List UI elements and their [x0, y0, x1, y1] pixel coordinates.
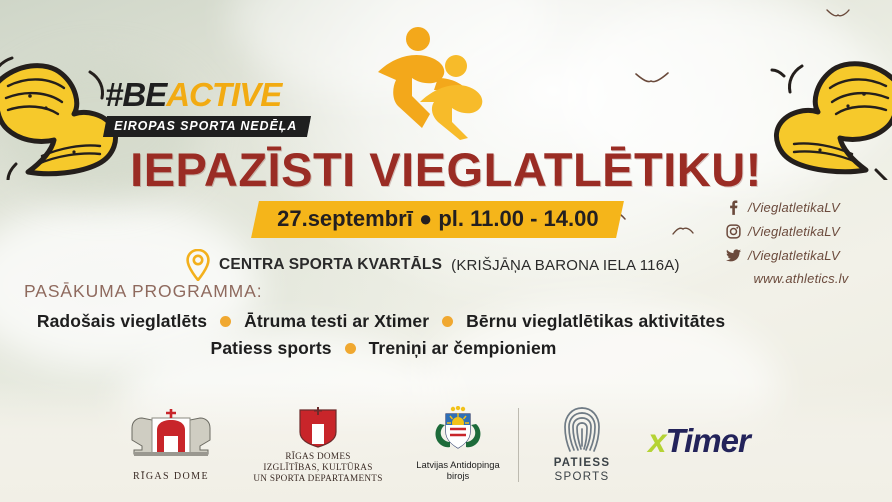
programme-list: Radošais vieglatlēts Ātruma testi ar Xti…: [0, 311, 892, 365]
logo-caption-line: UN SPORTA DEPARTAMENTS: [242, 473, 394, 484]
programme-item: Bērnu vieglatlētikas aktivitātes: [466, 311, 725, 332]
social-handle: /VieglatletikaLV: [748, 248, 840, 263]
instagram-icon: [726, 224, 741, 239]
beactive-subtitle: EIROPAS SPORTA NEDĒĻA: [103, 116, 311, 137]
logo-caption-line: IZGLĪTĪBAS, KULTŪRAS: [242, 462, 394, 473]
poster-canvas: #BEACTIVE EIROPAS SPORTA NEDĒĻA IEPAZĪST…: [0, 0, 892, 502]
bullet-dot-icon: [442, 316, 453, 327]
programme-item: Radošais vieglatlēts: [37, 311, 207, 332]
venue-line: CENTRA SPORTA KVARTĀLS (KRIŠJĀŅA BARONA …: [186, 249, 680, 281]
venue-address: (KRIŠJĀŅA BARONA IELA 116A): [451, 257, 680, 274]
fingerprint-icon: [562, 406, 602, 454]
date-time-text: 27.septembrī ● pl. 11.00 - 14.00: [277, 206, 598, 232]
xtimer-timer: Timer: [666, 422, 750, 459]
logo-caption: RĪGAS DOMES IZGLĪTĪBAS, KULTŪRAS UN SPOR…: [242, 451, 394, 484]
social-handle: /VieglatletikaLV: [748, 224, 840, 239]
programme-item: Patiess sports: [211, 338, 332, 359]
website-link[interactable]: www.athletics.lv: [726, 271, 876, 286]
logo-caption: PATIESS SPORTS: [528, 457, 636, 484]
beactive-be: BE: [122, 76, 166, 113]
bullet-dot-icon: [220, 316, 231, 327]
programme-title: PASĀKUMA PROGRAMMA:: [24, 281, 262, 302]
beactive-active: ACTIVE: [166, 76, 281, 113]
logo-caption-line: RĪGAS DOMES: [242, 451, 394, 462]
programme-row: Radošais vieglatlēts Ātruma testi ar Xti…: [0, 311, 892, 332]
riga-department-crest-icon: [296, 406, 340, 448]
logo-riga-department: RĪGAS DOMES IZGLĪTĪBAS, KULTŪRAS UN SPOR…: [242, 406, 394, 484]
programme-row: Patiess sports Treniņi ar čempioniem: [0, 338, 892, 359]
venue-name: CENTRA SPORTA KVARTĀLS: [219, 256, 442, 274]
social-link-twitter[interactable]: /VieglatletikaLV: [726, 246, 876, 264]
programme-item: Treniņi ar čempioniem: [369, 338, 557, 359]
logo-caption: RĪGAS DOME: [112, 471, 230, 483]
location-pin-icon: [186, 249, 210, 281]
social-link-instagram[interactable]: /VieglatletikaLV: [726, 222, 876, 240]
logo-caption-line: birojs: [398, 470, 518, 481]
date-time-banner: 27.septembrī ● pl. 11.00 - 14.00: [251, 201, 624, 238]
bird-silhouette-icon: [826, 8, 850, 19]
logo-latvian-antidoping: Latvijas Antidopinga birojs: [398, 406, 518, 481]
social-handle: /VieglatletikaLV: [748, 200, 840, 215]
beactive-wordmark: #BEACTIVE: [105, 78, 405, 111]
logo-caption-line: PATIESS: [528, 457, 636, 471]
twitter-icon: [726, 248, 741, 263]
bird-silhouette-icon: [635, 72, 669, 86]
social-link-facebook[interactable]: /VieglatletikaLV: [726, 198, 876, 216]
facebook-icon: [726, 200, 741, 215]
logo-caption-line: SPORTS: [528, 471, 636, 485]
social-links: /VieglatletikaLV /VieglatletikaLV /Viegl…: [726, 198, 876, 270]
page-title: IEPAZĪSTI VIEGLATLĒTIKU!: [0, 142, 892, 197]
logo-rigas-dome: RĪGAS DOME: [112, 406, 230, 483]
xtimer-x: x: [648, 422, 665, 459]
beactive-hash: #: [105, 76, 122, 113]
beactive-subtitle-text: EIROPAS SPORTA NEDĒĻA: [114, 119, 297, 133]
beactive-logo: #BEACTIVE EIROPAS SPORTA NEDĒĻA: [105, 78, 405, 137]
riga-coat-of-arms-icon: [112, 406, 230, 462]
logo-xtimer: xTimer: [624, 424, 774, 457]
sponsor-logos: RĪGAS DOME RĪGAS DOMES IZGLĪTĪBAS, KULTŪ…: [0, 400, 892, 496]
xtimer-wordmark: xTimer: [624, 424, 774, 457]
logo-caption: Latvijas Antidopinga birojs: [398, 459, 518, 481]
logo-divider: [518, 408, 519, 482]
programme-item: Ātruma testi ar Xtimer: [244, 311, 429, 332]
latvia-coat-of-arms-icon: [432, 406, 484, 456]
logo-caption-line: Latvijas Antidopinga: [398, 459, 518, 470]
bird-silhouette-icon: [672, 226, 694, 236]
bullet-dot-icon: [345, 343, 356, 354]
logo-patiess-sports: PATIESS SPORTS: [528, 406, 636, 484]
